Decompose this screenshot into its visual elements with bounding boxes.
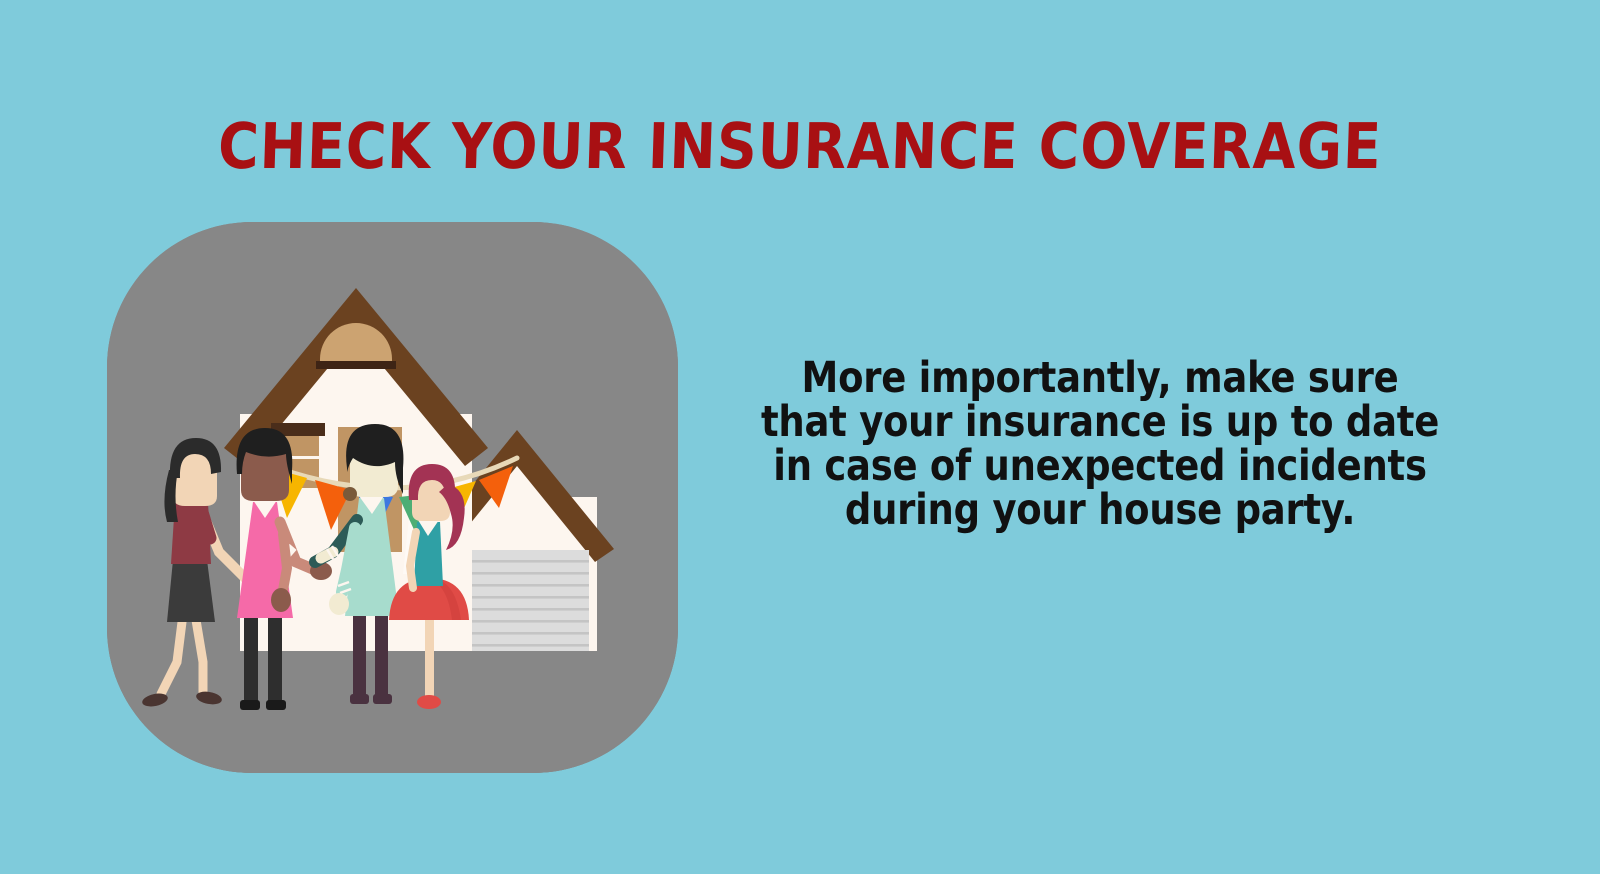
leg-left: [244, 614, 258, 706]
leg-right: [375, 614, 388, 700]
shoe-right: [373, 694, 392, 704]
shoe-left: [240, 700, 260, 710]
leg: [425, 616, 434, 698]
skirt: [167, 560, 215, 622]
leg-right: [268, 614, 282, 706]
ear: [343, 487, 357, 501]
hand-left: [329, 593, 349, 615]
shoe-right: [266, 700, 286, 710]
house-party-illustration: [107, 222, 678, 773]
shoe: [417, 695, 441, 709]
leg-left: [353, 614, 366, 700]
sleeve: [202, 512, 210, 538]
garage-door[interactable]: [459, 550, 589, 651]
page-title: CHECK YOUR INSURANCE COVERAGE: [95, 112, 1505, 182]
attic-window-sill: [316, 361, 396, 369]
hand-left: [271, 588, 291, 612]
arm: [410, 532, 416, 588]
arm-lower: [283, 534, 287, 590]
illustration-panel: [107, 222, 678, 773]
ground: [107, 651, 678, 773]
body-text: More importantly, make sure that your in…: [756, 356, 1444, 532]
shoe-left: [350, 694, 369, 704]
poster-canvas: CHECK YOUR INSURANCE COVERAGE: [0, 0, 1600, 874]
